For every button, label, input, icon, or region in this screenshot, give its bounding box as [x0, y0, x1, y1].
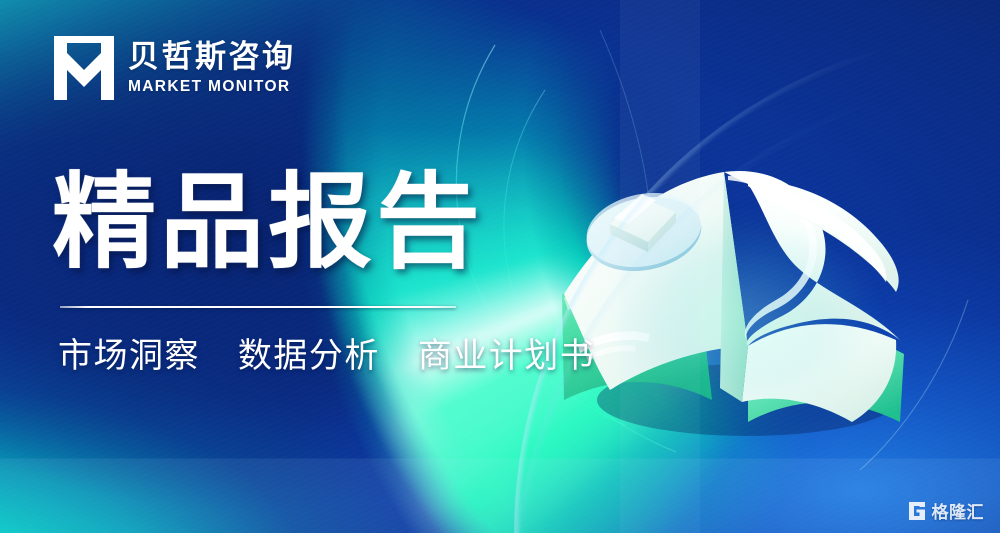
g-logo-icon [907, 501, 927, 521]
brand-logo-text: 贝哲斯咨询 MARKET MONITOR [128, 40, 296, 97]
watermark: 格隆汇 [907, 498, 985, 523]
brand-name-en: MARKET MONITOR [128, 78, 296, 96]
report-banner: 贝哲斯咨询 MARKET MONITOR 精品报告 市场洞察 数据分析 商业计划… [0, 0, 1000, 533]
brand-logo: 贝哲斯咨询 MARKET MONITOR [54, 36, 296, 100]
subtitle-item-3: 商业计划书 [418, 337, 596, 375]
subtitle-item-1: 市场洞察 [58, 337, 200, 375]
page-title: 精品报告 [52, 168, 484, 278]
watermark-text: 格隆汇 [932, 498, 985, 523]
title-divider [60, 306, 456, 308]
subtitle: 市场洞察 数据分析 商业计划书 [58, 328, 595, 377]
subtitle-item-2: 数据分析 [238, 337, 380, 375]
m-monogram-logo-icon [54, 36, 114, 100]
brand-name-cn: 贝哲斯咨询 [128, 40, 296, 75]
